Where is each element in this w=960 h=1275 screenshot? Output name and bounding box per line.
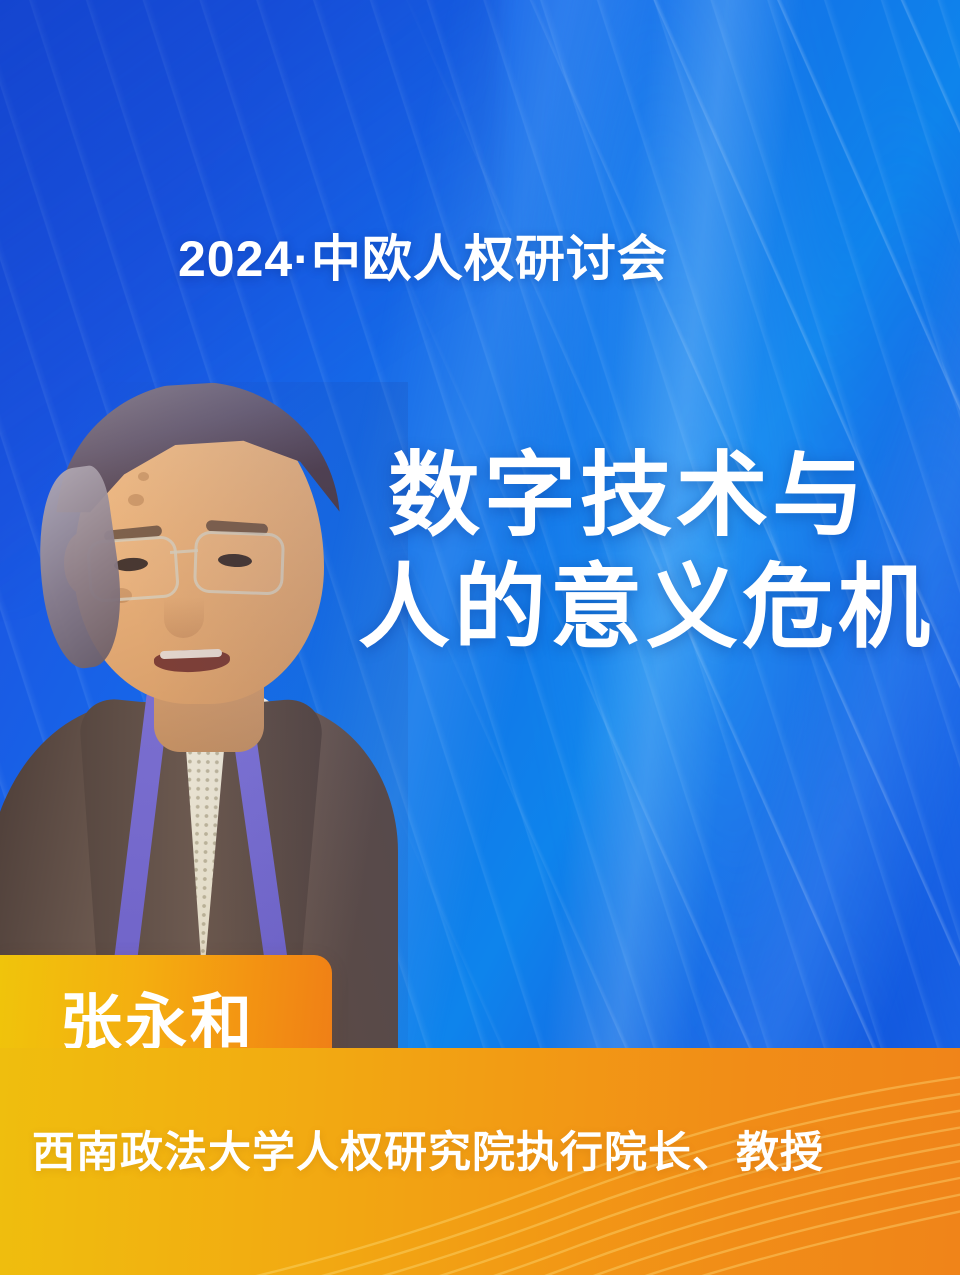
portrait-skin-mark bbox=[138, 472, 149, 481]
speaker-title-bar: 西南政法大学人权研究院执行院长、教授 bbox=[0, 1048, 960, 1275]
headline-line-1: 数字技术与 bbox=[358, 440, 898, 552]
speaker-name: 张永和 bbox=[60, 993, 255, 1055]
portrait-eyeglass-right bbox=[193, 530, 285, 595]
portrait-skin-mark bbox=[128, 494, 144, 506]
event-title: 2024·中欧人权研讨会 bbox=[178, 234, 668, 284]
portrait-nose bbox=[164, 570, 204, 638]
headline-line-2: 人的意义危机 bbox=[358, 552, 898, 664]
conference-speaker-poster: 2024·中欧人权研讨会 数字技术与 人的意义危机 张永和 西南政法大学人权研究… bbox=[0, 0, 960, 1275]
speaker-title-text: 西南政法大学人权研究院执行院长、教授 bbox=[32, 1132, 824, 1175]
session-headline: 数字技术与 人的意义危机 bbox=[358, 440, 898, 664]
